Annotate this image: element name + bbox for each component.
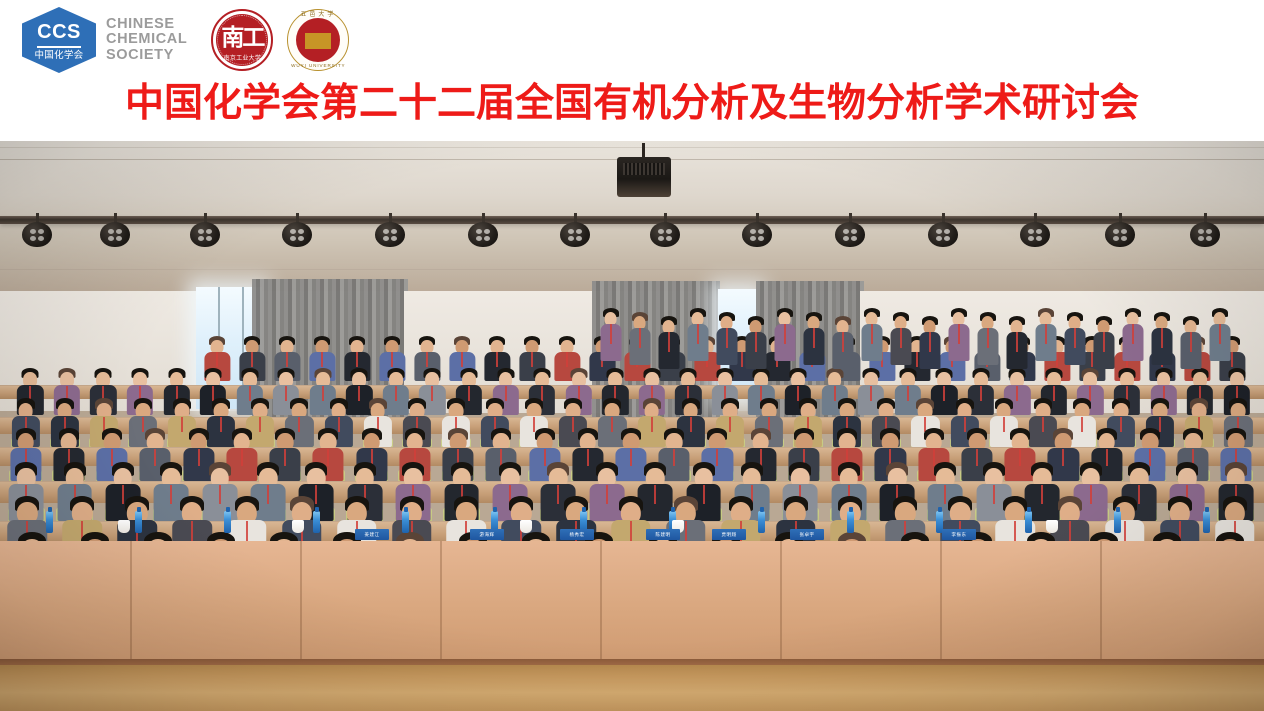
desk-panel-seam bbox=[780, 541, 782, 659]
wuyi-university-seal: 五邑大学 WUYI UNIVERSITY bbox=[287, 9, 349, 71]
audience-member bbox=[832, 317, 853, 369]
ccs-chinese-name: 中国化学会 bbox=[34, 51, 83, 61]
desk-panel-seam bbox=[440, 541, 442, 659]
nameplate: 陈建明 bbox=[646, 529, 680, 540]
desk-panel-seam bbox=[130, 541, 132, 659]
water-bottle bbox=[313, 511, 320, 533]
nameplate: 游海辉 bbox=[470, 529, 504, 540]
audience-member bbox=[1035, 309, 1056, 361]
audience-member bbox=[1209, 309, 1230, 361]
nanjing-tech-university-seal: 南工 南京工业大学 bbox=[211, 9, 273, 71]
audience-member bbox=[919, 317, 940, 369]
audience-member bbox=[861, 309, 882, 361]
audience-member bbox=[1006, 317, 1027, 369]
njut-seal-chinese-name: 南京工业大学 bbox=[211, 56, 273, 62]
desk-panel-seam bbox=[1100, 541, 1102, 659]
tea-cup bbox=[292, 520, 304, 533]
audience-member bbox=[1122, 309, 1143, 361]
water-bottle bbox=[1025, 511, 1032, 533]
front-desk bbox=[0, 541, 1264, 711]
tea-cup bbox=[520, 520, 532, 533]
audience-member bbox=[687, 309, 708, 361]
nameplate: 李振东 bbox=[942, 529, 976, 540]
water-bottle bbox=[1114, 511, 1121, 533]
water-bottle bbox=[135, 511, 142, 533]
nameplate: 姜建江 bbox=[355, 529, 389, 540]
audience-member bbox=[1151, 313, 1172, 365]
audience-member bbox=[948, 309, 969, 361]
nameplate: 杨秀宏 bbox=[560, 529, 594, 540]
audience-member bbox=[629, 313, 650, 365]
tea-cup bbox=[118, 520, 130, 533]
nameplate: 贾明翔 bbox=[712, 529, 746, 540]
desk-panel-seam bbox=[600, 541, 602, 659]
water-bottle bbox=[46, 511, 53, 533]
water-bottle bbox=[847, 511, 854, 533]
audience-member bbox=[774, 309, 795, 361]
audience-member bbox=[658, 317, 679, 369]
wuyi-seal-bottom-text: WUYI UNIVERSITY bbox=[287, 64, 349, 69]
floor bbox=[0, 665, 1264, 711]
audience-member bbox=[1180, 317, 1201, 369]
desk-panel-seam bbox=[300, 541, 302, 659]
desk-panel-seam bbox=[940, 541, 942, 659]
audience-member bbox=[977, 313, 998, 365]
audience-member bbox=[1093, 317, 1114, 369]
ccs-abbreviation: CCS bbox=[37, 22, 81, 42]
ccs-divider-rule bbox=[37, 46, 81, 48]
water-bottle bbox=[1203, 511, 1210, 533]
group-photo: 姜建江游海辉杨秀宏陈建明贾明翔张卓宇李振东 bbox=[0, 141, 1264, 711]
water-bottle bbox=[224, 511, 231, 533]
logo-strip: CCS 中国化学会 CHINESE CHEMICAL SOCIETY 南工 南京… bbox=[22, 6, 349, 74]
water-bottle bbox=[758, 511, 765, 533]
banner-page: CCS 中国化学会 CHINESE CHEMICAL SOCIETY 南工 南京… bbox=[0, 0, 1264, 711]
audience-member bbox=[803, 313, 824, 365]
audience-member bbox=[600, 309, 621, 361]
wuyi-seal-top-text: 五邑大学 bbox=[287, 12, 349, 18]
ccs-hexagon-logo: CCS 中国化学会 bbox=[22, 7, 96, 73]
ccs-wordmark: CHINESE CHEMICAL SOCIETY bbox=[106, 17, 187, 64]
audience-member bbox=[745, 317, 766, 369]
audience-member bbox=[890, 313, 911, 365]
audience-member bbox=[1064, 313, 1085, 365]
tea-cup bbox=[1046, 520, 1058, 533]
page-title: 中国化学会第二十二届全国有机分析及生物分析学术研讨会 bbox=[0, 80, 1264, 128]
banner-header: CCS 中国化学会 CHINESE CHEMICAL SOCIETY 南工 南京… bbox=[0, 0, 1264, 141]
audience-member bbox=[716, 313, 737, 365]
nameplate: 张卓宇 bbox=[790, 529, 824, 540]
water-bottle bbox=[402, 511, 409, 533]
